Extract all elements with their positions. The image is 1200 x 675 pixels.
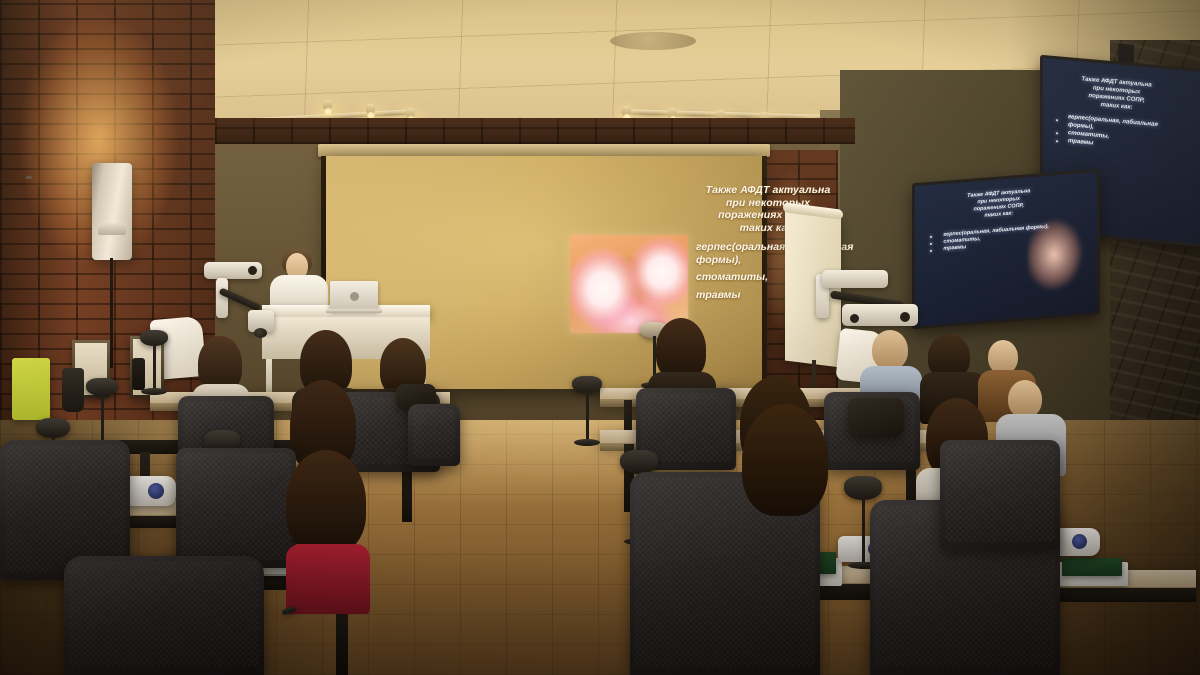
office-chair — [408, 404, 460, 466]
brick-wall-upper — [215, 118, 855, 144]
pa-speaker — [92, 163, 132, 260]
microscope-knob — [850, 314, 859, 323]
coffee-carafe — [62, 368, 84, 412]
reed-diffuser — [132, 358, 145, 390]
hp-logo-icon — [350, 292, 359, 301]
track-spotlight — [622, 106, 631, 117]
track-spotlight — [366, 104, 375, 115]
microscope-arm — [216, 278, 228, 318]
pa-speaker-led — [26, 176, 32, 179]
microscope-knob — [900, 312, 910, 322]
microscope-lens — [254, 328, 267, 338]
office-chair-foreground — [64, 556, 264, 675]
office-chair — [176, 448, 296, 568]
green-notebook — [1062, 558, 1122, 576]
presenter-laptop-base — [326, 309, 382, 313]
office-chair — [940, 440, 1060, 550]
microscope-knob — [248, 266, 257, 275]
microscope-head — [822, 270, 888, 288]
yellow-paper-bag — [12, 358, 50, 420]
track-spotlight — [323, 100, 332, 111]
tv-screen-glare — [1028, 211, 1094, 297]
handbag — [848, 398, 904, 438]
tv-slide-text: Также АФДТ актуальна при некоторых пораж… — [1053, 73, 1181, 156]
lecture-hall-photo: Также АФДТ актуальна при некоторых пораж… — [0, 0, 1200, 675]
slide-clinical-image — [570, 235, 688, 333]
